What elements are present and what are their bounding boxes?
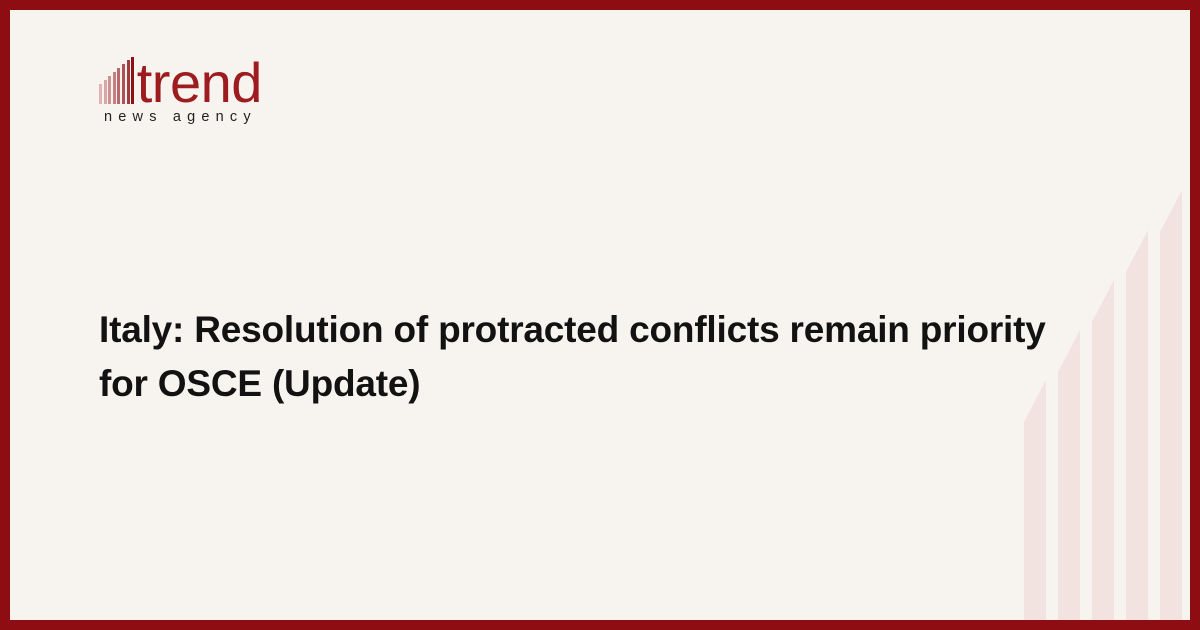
logo-bar-7 (127, 60, 130, 104)
decor-bar-slant-5 (1160, 190, 1182, 232)
decor-bar-1 (1024, 380, 1046, 620)
logo-mark-row: trend (99, 48, 359, 106)
logo-bar-6 (122, 64, 125, 104)
logo-bar-4 (113, 72, 116, 104)
ascending-bars-icon (99, 57, 136, 106)
card-canvas: trend news agency Italy: Resolution of p… (10, 10, 1190, 620)
logo-bar-5 (117, 68, 120, 104)
logo-bar-2 (104, 80, 107, 104)
headline-title: Italy: Resolution of protracted conflict… (99, 303, 1099, 411)
decor-bar-slant-4 (1126, 230, 1148, 272)
trend-news-agency-logo[interactable]: trend news agency (99, 48, 359, 125)
logo-bar-1 (99, 84, 102, 104)
share-card: trend news agency Italy: Resolution of p… (0, 0, 1200, 630)
logo-wordmark: trend (137, 56, 262, 109)
decor-bar-5 (1160, 190, 1182, 620)
decor-bar-4 (1126, 230, 1148, 620)
logo-bar-8 (131, 57, 134, 104)
logo-bar-3 (108, 76, 111, 104)
